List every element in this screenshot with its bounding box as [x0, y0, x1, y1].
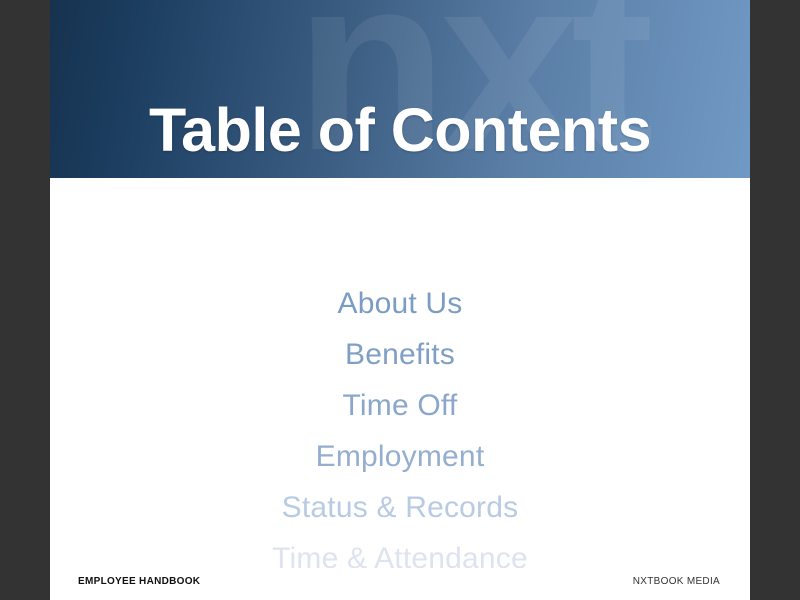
footer-publisher-label: NXTBOOK MEDIA: [633, 576, 720, 587]
toc-item-employment[interactable]: Employment: [50, 431, 750, 482]
toc-item-time-off[interactable]: Time Off: [50, 380, 750, 431]
viewer-left-gutter: [0, 0, 50, 600]
document-viewer: nxt Table of Contents About Us Benefits …: [0, 0, 800, 600]
table-of-contents-body: About Us Benefits Time Off Employment St…: [50, 178, 750, 600]
page-footer-bar: EMPLOYEE HANDBOOK NXTBOOK MEDIA: [50, 568, 750, 600]
document-page: nxt Table of Contents About Us Benefits …: [50, 0, 750, 600]
page-title: Table of Contents: [50, 41, 750, 178]
toc-item-about-us[interactable]: About Us: [50, 278, 750, 329]
page-header-banner: nxt Table of Contents: [50, 0, 750, 178]
footer-publication-label: EMPLOYEE HANDBOOK: [78, 576, 200, 587]
viewer-right-gutter: [750, 0, 800, 600]
table-of-contents-list: About Us Benefits Time Off Employment St…: [50, 278, 750, 584]
toc-item-status-and-records[interactable]: Status & Records: [50, 482, 750, 533]
toc-item-benefits[interactable]: Benefits: [50, 329, 750, 380]
